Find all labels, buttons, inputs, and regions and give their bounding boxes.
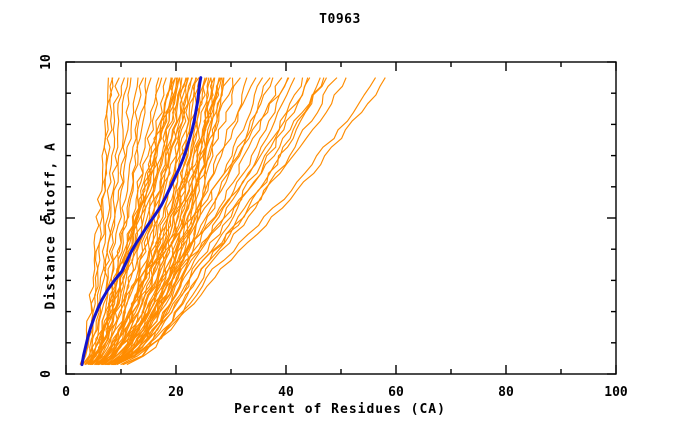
x-tick-label: 0 (62, 385, 70, 400)
plot-area: 0204060801000510 (0, 0, 680, 440)
chart-figure: T0963 0204060801000510 Percent of Residu… (0, 0, 680, 440)
prediction-curve (127, 78, 337, 365)
x-axis-label: Percent of Residues (CA) (0, 402, 680, 417)
curves-layer (80, 78, 385, 365)
x-tick-label: 60 (388, 385, 404, 400)
y-axis-label: Distance Cutoff, A (44, 96, 59, 356)
x-tick-label: 100 (604, 385, 628, 400)
x-tick-label: 40 (278, 385, 294, 400)
y-tick-label: 0 (39, 370, 54, 378)
y-tick-label: 10 (39, 54, 54, 70)
prediction-curve (123, 78, 326, 365)
x-tick-label: 80 (498, 385, 514, 400)
prediction-curve (91, 78, 289, 365)
x-tick-label: 20 (168, 385, 184, 400)
